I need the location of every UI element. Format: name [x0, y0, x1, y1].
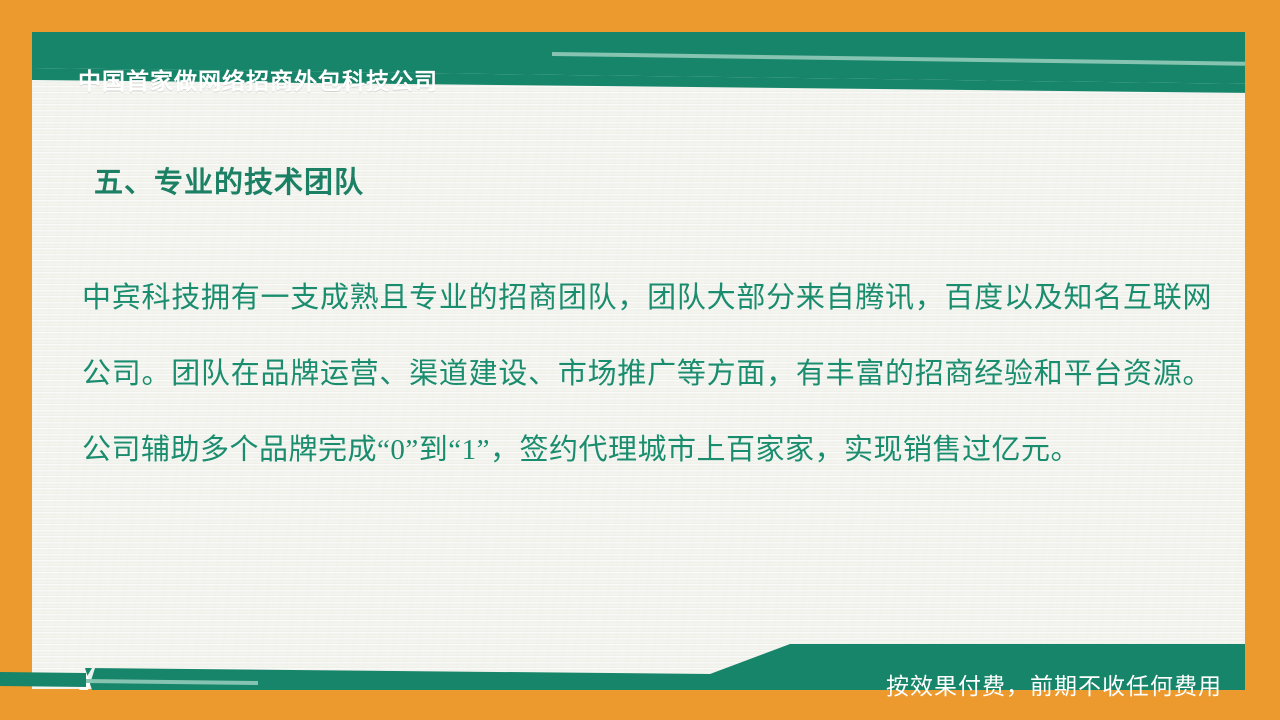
body-paragraph: 中宾科技拥有一支成熟且专业的招商团队，团队大部分来自腾讯，百度以及知名互联网公司…: [82, 260, 1212, 488]
slide-content-area: 中国首家做网络招商外包科技公司 五、专业的技术团队 中宾科技拥有一支成熟且专业的…: [32, 32, 1245, 689]
slide-canvas: 中国首家做网络招商外包科技公司 五、专业的技术团队 中宾科技拥有一支成熟且专业的…: [0, 0, 1280, 720]
footer-slogan: 按效果付费，前期不收任何费用: [886, 675, 1222, 698]
header-title: 中国首家做网络招商外包科技公司: [78, 70, 438, 93]
section-title: 五、专业的技术团队: [94, 166, 364, 201]
header-band-highlight-line: [552, 52, 1245, 66]
